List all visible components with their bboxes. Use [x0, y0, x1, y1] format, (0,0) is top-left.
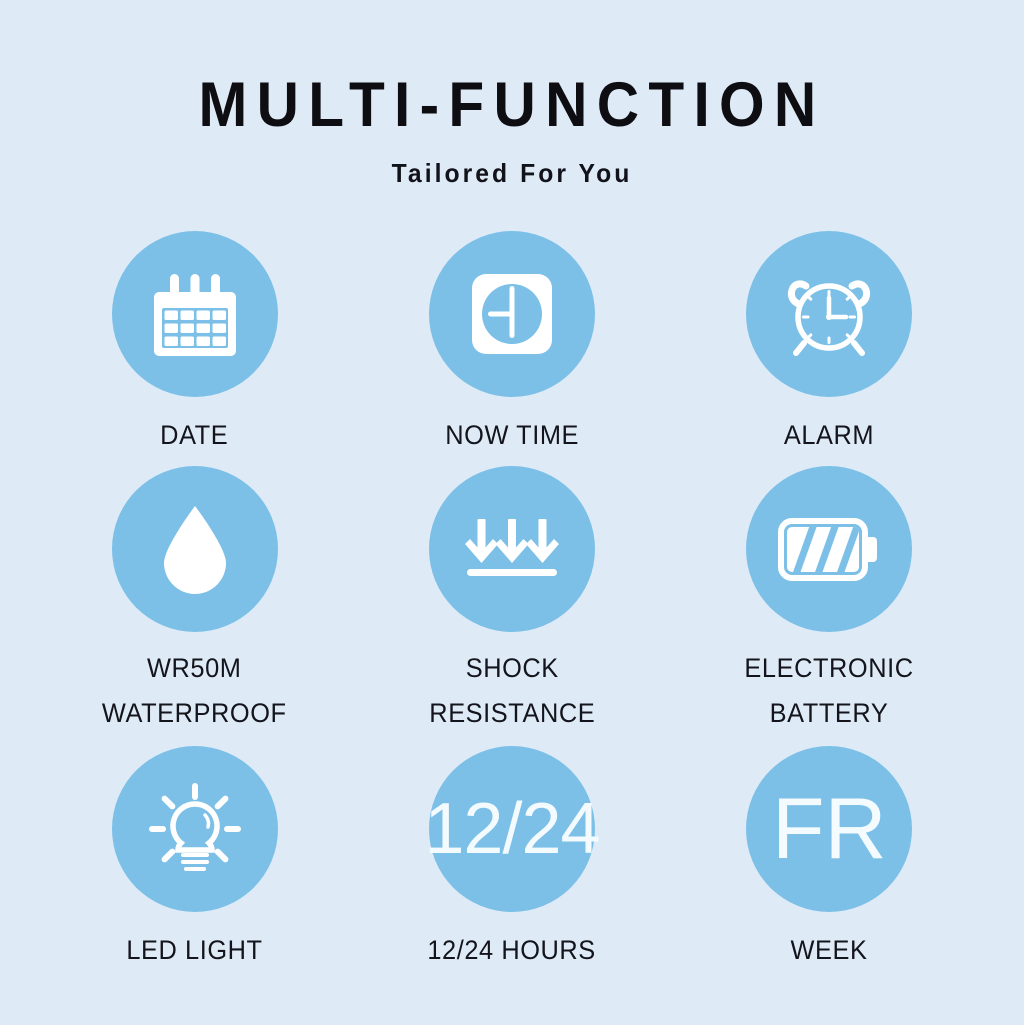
feature-item-led-light[interactable]: LED LIGHT [36, 746, 353, 981]
multi-function-poster: MULTI-FUNCTION Tailored For You [0, 0, 1024, 1025]
feature-label: ALARM [784, 413, 874, 458]
feature-icon-circle [112, 231, 278, 397]
feature-label: NOW TIME [445, 413, 579, 458]
feature-item-now-time[interactable]: NOW TIME [353, 231, 670, 466]
feature-label: DATE [161, 413, 229, 458]
week-text-icon: FR [772, 786, 887, 872]
feature-icon-circle [112, 466, 278, 632]
shock-arrows-icon [460, 497, 564, 601]
feature-item-shock[interactable]: SHOCK RESISTANCE [353, 466, 670, 746]
feature-icon-circle [429, 466, 595, 632]
feature-item-week[interactable]: FR WEEK [671, 746, 988, 981]
feature-icon-circle [112, 746, 278, 912]
feature-icon-circle [429, 231, 595, 397]
feature-item-battery[interactable]: ELECTRONIC BATTERY [671, 466, 988, 746]
hours-text-icon: 12/24 [424, 793, 599, 865]
feature-label: ELECTRONIC BATTERY [745, 646, 914, 735]
feature-icon-circle: 12/24 [429, 746, 595, 912]
feature-icon-circle [746, 466, 912, 632]
feature-label: SHOCK RESISTANCE [429, 646, 595, 735]
feature-icon-circle: FR [746, 746, 912, 912]
light-bulb-icon [142, 776, 248, 882]
feature-icon-circle [746, 231, 912, 397]
feature-grid: DATE NOW TIME [0, 231, 1024, 981]
calendar-icon [143, 262, 247, 366]
alarm-clock-icon [775, 260, 883, 368]
page-title: MULTI-FUNCTION [36, 72, 988, 138]
clock-square-icon [460, 262, 564, 366]
poster-header: MULTI-FUNCTION Tailored For You [0, 0, 1024, 189]
feature-item-alarm[interactable]: ALARM [671, 231, 988, 466]
feature-item-date[interactable]: DATE [36, 231, 353, 466]
feature-label: LED LIGHT [127, 928, 263, 973]
feature-label: WEEK [791, 928, 868, 973]
water-drop-icon [145, 499, 245, 599]
page-subtitle: Tailored For You [26, 158, 999, 189]
feature-item-waterproof[interactable]: WR50M WATERPROOF [36, 466, 353, 746]
feature-label: WR50M WATERPROOF [102, 646, 287, 735]
feature-label: 12/24 HOURS [428, 928, 596, 973]
battery-icon [773, 497, 885, 601]
feature-item-hours[interactable]: 12/24 12/24 HOURS [353, 746, 670, 981]
